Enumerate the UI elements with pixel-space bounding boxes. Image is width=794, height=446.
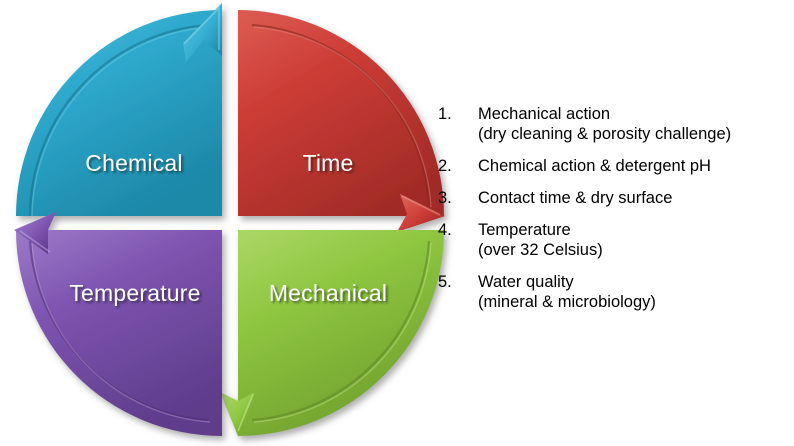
list-item-text: Chemical action & detergent pH [478,156,711,176]
temperature-slice-body [16,230,222,436]
mechanical-slice-body [238,230,444,436]
list-item-detail: (over 32 Celsius) [478,240,603,260]
list-item-number: 1. [438,104,478,124]
list-item: 1. Mechanical action (dry cleaning & por… [438,104,788,144]
list-item-number: 4. [438,220,478,240]
list-item-number: 5. [438,272,478,292]
quadrant-time[interactable] [238,10,445,232]
list-item-title: Temperature [478,221,571,239]
list-item-detail: (dry cleaning & porosity challenge) [478,124,731,144]
list-item: 2. Chemical action & detergent pH [438,156,788,176]
quadrant-temperature[interactable] [14,212,222,436]
list-item-detail: (mineral & microbiology) [478,292,656,312]
quadrant-chemical[interactable] [16,3,222,216]
list-item-text: Mechanical action (dry cleaning & porosi… [478,104,731,144]
list-item-title: Water quality [478,273,574,291]
list-item-title: Mechanical action [478,105,610,123]
diagram-canvas: Chemical Time Mechanical Temperature 1. … [0,0,794,446]
list-item-title: Chemical action & detergent pH [478,157,711,175]
list-item: 5. Water quality (mineral & microbiology… [438,272,788,312]
list-item-text: Temperature (over 32 Celsius) [478,220,603,260]
list-item-text: Water quality (mineral & microbiology) [478,272,656,312]
quadrant-mechanical[interactable] [220,230,444,436]
time-slice-body [238,10,444,216]
list-item-text: Contact time & dry surface [478,188,672,208]
list-item: 4. Temperature (over 32 Celsius) [438,220,788,260]
list-item-number: 2. [438,156,478,176]
list-item-number: 3. [438,188,478,208]
list-item: 3. Contact time & dry surface [438,188,788,208]
cycle-wheel: Chemical Time Mechanical Temperature [8,0,438,446]
factor-list: 1. Mechanical action (dry cleaning & por… [438,104,788,324]
list-item-title: Contact time & dry surface [478,189,672,207]
